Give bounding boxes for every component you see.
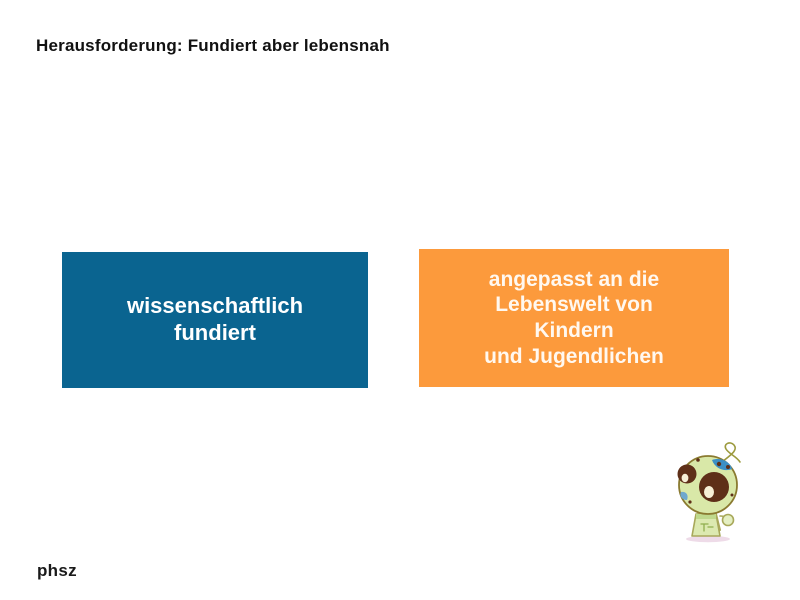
mascot-speckle-a — [696, 458, 700, 462]
mascot-patch-dot-a — [717, 462, 721, 466]
content-box-orange: angepasst an die Lebenswelt von Kindern … — [419, 249, 729, 387]
mascot-eye-large — [699, 472, 729, 502]
mascot-speckle-c — [731, 494, 734, 497]
mascot-patch-dot-b — [726, 465, 730, 469]
page-title: Herausforderung: Fundiert aber lebensnah — [36, 36, 390, 56]
content-box-orange-text: angepasst an die Lebenswelt von Kindern … — [419, 267, 729, 369]
mascot-antenna — [722, 443, 740, 462]
mascot-eye-large-highlight — [704, 486, 714, 498]
mascot-eye-small-highlight — [682, 474, 689, 482]
footer-logo: phsz — [37, 562, 77, 579]
mascot-speckle-b — [688, 500, 691, 503]
mascot-icon — [668, 440, 758, 548]
content-box-blue-text: wissenschaftlich fundiert — [62, 293, 368, 347]
mascot-illustration — [668, 440, 758, 548]
mascot-held-object — [723, 515, 734, 526]
content-box-blue: wissenschaftlich fundiert — [62, 252, 368, 388]
slide-canvas: Herausforderung: Fundiert aber lebensnah… — [0, 0, 800, 600]
